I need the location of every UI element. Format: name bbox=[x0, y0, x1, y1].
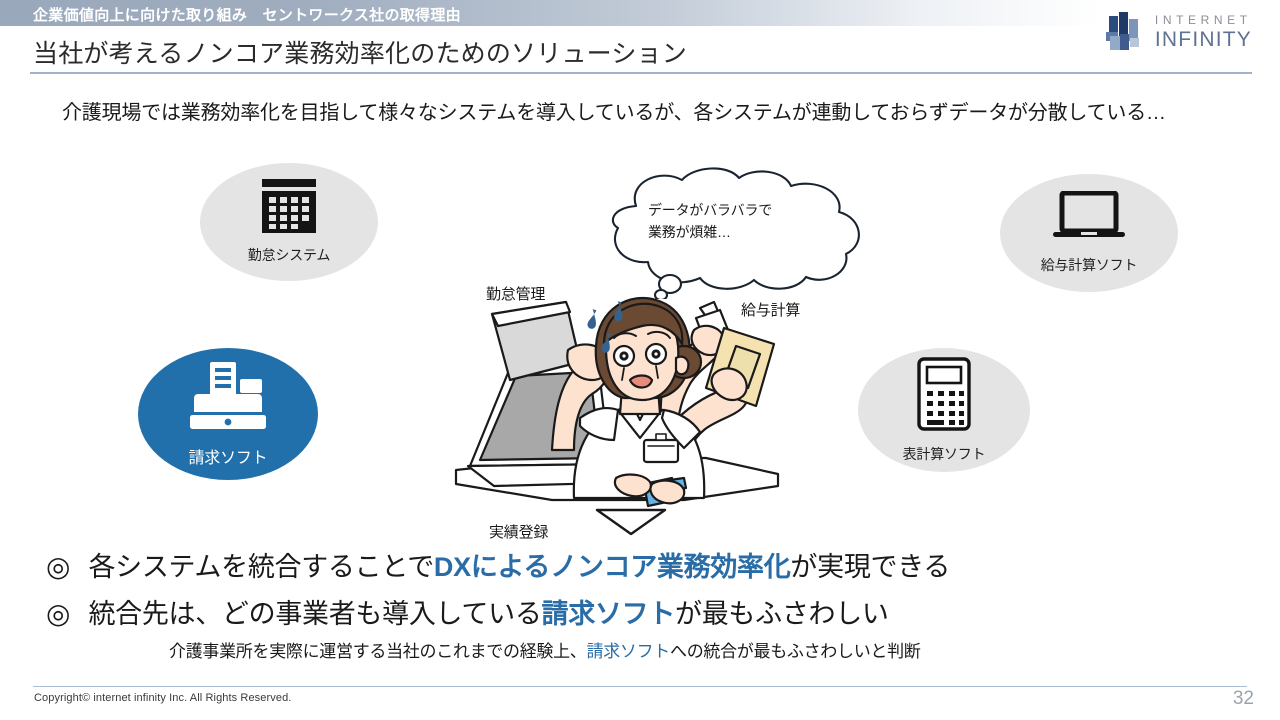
key-point-2: ◎ 統合先は、どの事業者も導入している請求ソフトが最もふさわしい bbox=[46, 592, 889, 631]
lead-statement: 介護現場では業務効率化を目指して様々なシステムを導入しているが、各システムが連動… bbox=[62, 96, 1166, 125]
overwhelmed-worker-illustration bbox=[448, 288, 794, 520]
key-point-2-pre: 統合先は、どの事業者も導入している bbox=[88, 599, 541, 629]
thought-bubble: データがバラバラで 業務が煩雑… bbox=[578, 164, 870, 299]
calendar-icon bbox=[258, 179, 320, 238]
cash-register-icon bbox=[184, 360, 272, 437]
node-spreadsheet-software: 表計算ソフト bbox=[858, 348, 1030, 472]
node-label: 給与計算ソフト bbox=[1041, 255, 1138, 275]
bullet-marker-icon: ◎ bbox=[46, 600, 70, 628]
node-payroll-software: 給与計算ソフト bbox=[1000, 174, 1178, 292]
calculator-icon bbox=[916, 356, 972, 437]
page-title: 当社が考えるノンコア業務効率化のためのソリューション bbox=[33, 34, 687, 70]
key-point-1-pre: 各システムを統合することで bbox=[88, 552, 433, 582]
node-label: 請求ソフト bbox=[188, 444, 267, 468]
footer-divider bbox=[33, 686, 1247, 687]
logo-text-infinity: INFINITY bbox=[1155, 29, 1252, 50]
header-band-text: 企業価値向上に向けた取り組み セントワークス社の取得理由 bbox=[33, 4, 461, 25]
label-record-entry: 実績登録 bbox=[489, 521, 548, 542]
slide: 企業価値向上に向けた取り組み セントワークス社の取得理由 当社が考えるノンコア業… bbox=[0, 0, 1280, 720]
supporting-note-highlight: 請求ソフト bbox=[587, 642, 671, 661]
title-divider bbox=[30, 72, 1252, 74]
key-point-2-highlight: 請求ソフト bbox=[542, 599, 676, 629]
logo-text-internet: INTERNET bbox=[1155, 14, 1252, 26]
logo-mark-icon bbox=[1104, 12, 1144, 52]
node-label: 勤怠システム bbox=[248, 245, 330, 265]
node-billing-software: 請求ソフト bbox=[138, 348, 318, 480]
supporting-note-post: への統合が最もふさわしいと判断 bbox=[670, 642, 921, 661]
bubble-line-1: データがバラバラで bbox=[648, 200, 848, 222]
logo-wordmark: INTERNET INFINITY bbox=[1155, 14, 1252, 50]
key-point-1-text: 各システムを統合することでDXによるノンコア業務効率化が実現できる bbox=[88, 545, 950, 584]
node-label: 表計算ソフト bbox=[903, 444, 986, 464]
key-point-1-highlight: DXによるノンコア業務効率化 bbox=[434, 552, 791, 582]
bullet-marker-icon: ◎ bbox=[46, 553, 70, 581]
key-point-1-post: が実現できる bbox=[790, 552, 950, 582]
company-logo: INTERNET INFINITY bbox=[1104, 10, 1252, 54]
node-attendance-system: 勤怠システム bbox=[200, 163, 378, 281]
copyright-text: Copyright© internet infinity Inc. All Ri… bbox=[34, 692, 291, 704]
supporting-note-pre: 介護事業所を実際に運営する当社のこれまでの経験上、 bbox=[169, 642, 587, 661]
supporting-note: 介護事業所を実際に運営する当社のこれまでの経験上、請求ソフトへの統合が最もふさわ… bbox=[169, 637, 921, 662]
key-point-2-text: 統合先は、どの事業者も導入している請求ソフトが最もふさわしい bbox=[88, 592, 888, 631]
thought-bubble-text: データがバラバラで 業務が煩雑… bbox=[648, 200, 848, 243]
key-point-2-post: が最もふさわしい bbox=[675, 599, 889, 629]
laptop-icon bbox=[1052, 191, 1126, 248]
bubble-line-2: 業務が煩雑… bbox=[648, 222, 848, 244]
record-entry-arrow-icon bbox=[595, 508, 667, 536]
key-point-1: ◎ 各システムを統合することでDXによるノンコア業務効率化が実現できる bbox=[46, 545, 950, 584]
page-number: 32 bbox=[1233, 688, 1254, 710]
